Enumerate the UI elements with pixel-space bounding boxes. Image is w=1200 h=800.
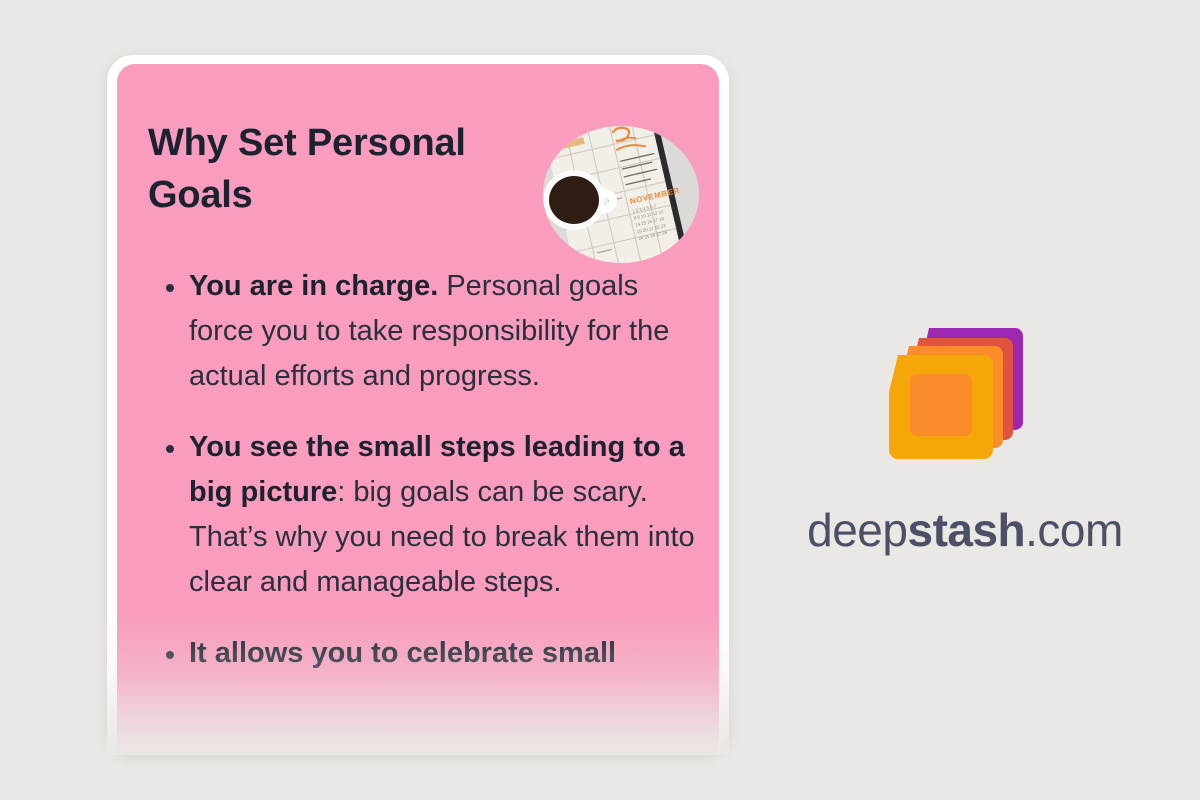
list-item: It allows you to celebrate small [162,631,705,676]
benefits-list: You are in charge. Personal goals force … [117,264,719,676]
bullet-lead-text: You are in charge. [189,270,438,302]
deepstash-branding: deepstash.com [795,300,1135,556]
page-title: Why Set Personal Goals [148,117,518,221]
list-item: You are in charge. Personal goals force … [162,264,705,399]
planner-notebook-coffee-photo-icon: NOVEMBER 1 2 3 4 5 6 7 8 9 10 11 12 13 1… [543,126,699,263]
brand-name-part-2: stash [907,504,1025,556]
bullet-lead-text: It allows you to celebrate small [189,637,616,669]
brand-wordmark: deepstash.com [795,504,1135,556]
list-item: You see the small steps leading to a big… [162,425,705,605]
stash-card[interactable]: Why Set Personal Goals [107,55,729,755]
brand-name-part-1: deep [807,504,907,556]
card-body: Why Set Personal Goals [117,64,719,755]
deepstash-stacked-squares-logo-icon [875,300,1055,480]
card-header: Why Set Personal Goals [117,64,719,264]
brand-name-part-3: .com [1025,504,1123,556]
